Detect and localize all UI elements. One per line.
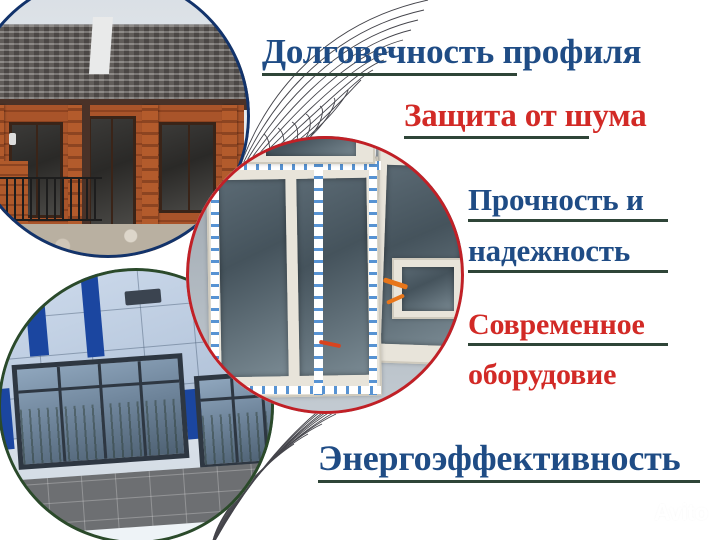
headline-strength: Прочность и: [468, 182, 668, 222]
headline-equipment: оборудовие: [468, 358, 616, 393]
headline-noise-protection: Защита от шума: [404, 98, 647, 139]
headline-underline: [468, 219, 668, 222]
avito-watermark: Avito: [623, 499, 708, 526]
headline-underline: [262, 73, 517, 76]
veka-windows-photo: [186, 136, 464, 414]
headline-underline: [468, 343, 668, 346]
headline-text: надежность: [468, 233, 630, 268]
headline-underline: [468, 270, 668, 273]
headline-underline: [318, 480, 700, 483]
headline-underline: [404, 136, 589, 139]
headline-energy-efficiency: Энергоэффективность: [318, 437, 700, 483]
headline-text: Долговечность профиля: [262, 32, 641, 71]
poster-canvas: Долговечность профиля Защита от шума Про…: [0, 0, 720, 540]
headline-text: Современное: [468, 308, 645, 341]
avito-dots-icon: [623, 503, 649, 523]
headline-text: оборудовие: [468, 358, 616, 391]
headline-text: Прочность и: [468, 182, 644, 217]
headline-modern: Современное: [468, 308, 668, 346]
headline-text: Энергоэффективность: [318, 438, 680, 478]
headline-text: Защита от шума: [404, 98, 647, 134]
headline-reliability: надежность: [468, 233, 668, 273]
avito-wordmark: Avito: [654, 499, 708, 526]
headline-durability: Долговечность профиля: [262, 32, 641, 76]
